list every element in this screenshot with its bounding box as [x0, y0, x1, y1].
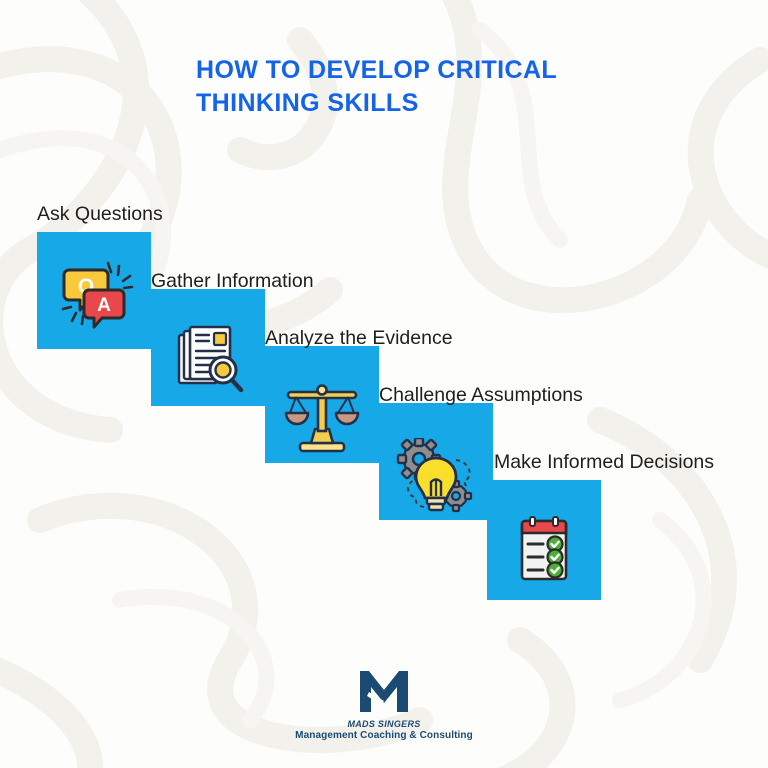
page-title-line-2: THINKING SKILLS: [196, 87, 656, 120]
documents-magnifier-icon: [172, 322, 248, 398]
balance-scales-icon: [281, 377, 363, 459]
question-answer-bubbles-icon: Q A: [55, 252, 135, 332]
step-label-1: Ask Questions: [37, 203, 163, 226]
m-monogram-logo: [356, 668, 412, 714]
page-title: HOW TO DEVELOP CRITICAL THINKING SKILLS: [196, 54, 656, 121]
checklist-clipboard-icon: [515, 513, 575, 587]
logo-company-name: MADS SINGERS: [0, 719, 768, 729]
step-label-5: Make Informed Decisions: [494, 451, 714, 474]
page-title-line-1: HOW TO DEVELOP CRITICAL: [196, 54, 656, 87]
logo-tagline: Management Coaching & Consulting: [0, 730, 768, 741]
step-label-2: Gather Information: [151, 270, 314, 293]
svg-text:A: A: [97, 295, 111, 316]
brand-logo: MADS SINGERS Management Coaching & Consu…: [0, 668, 768, 741]
lightbulb-gears-icon: [394, 438, 478, 518]
step-label-3: Analyze the Evidence: [265, 327, 453, 350]
step-label-4: Challenge Assumptions: [379, 384, 583, 407]
